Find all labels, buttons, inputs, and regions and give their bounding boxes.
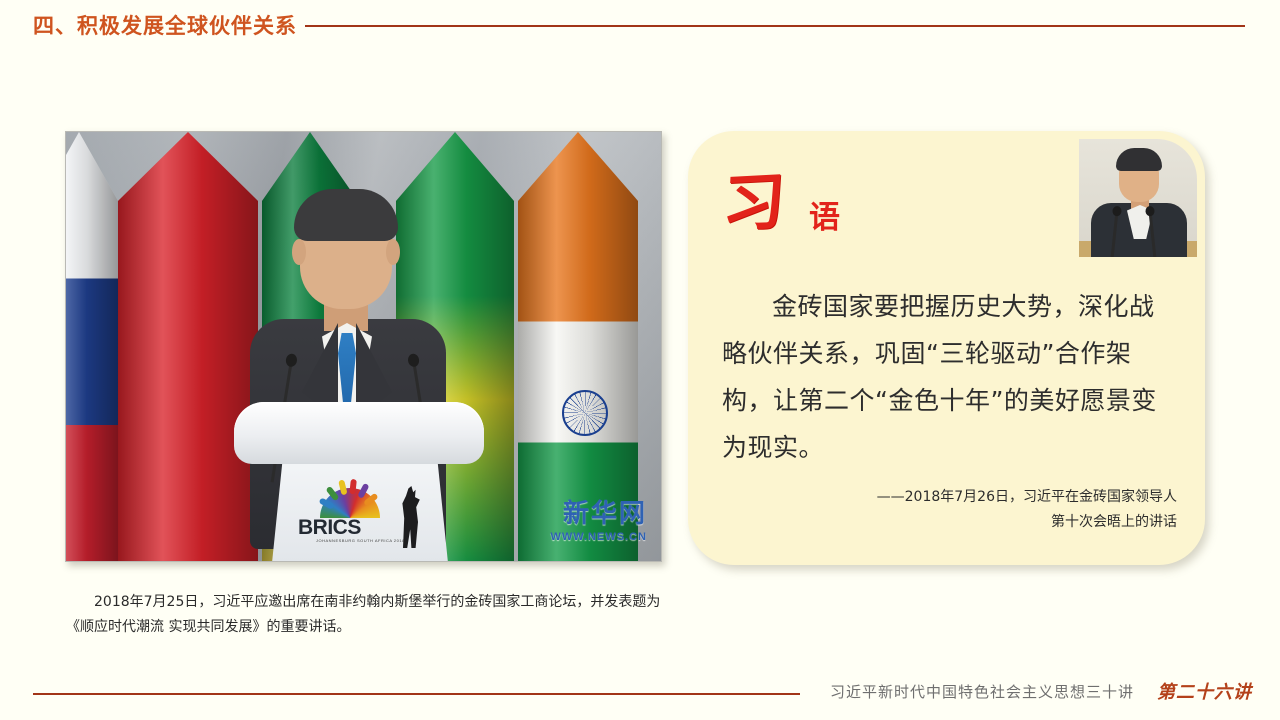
event-photo: BRICS JOHANNESBURG SOUTH AFRICA 2018 新华网… <box>65 131 662 562</box>
footer-lecture-number: 第二十六讲 <box>1157 678 1252 704</box>
speaker-portrait-thumbnail <box>1079 139 1197 257</box>
quote-card: 习 语 金砖国家要把握历史大势，深化战略伙伴关系，巩固“三轮驱动”合作架构，让第… <box>688 131 1205 565</box>
photo-caption: 2018年7月25日，习近平应邀出席在南非约翰内斯堡举行的金砖国家工商论坛，并发… <box>66 590 666 640</box>
footer-divider <box>33 693 800 695</box>
header-divider <box>305 25 1245 27</box>
brics-sub-wordmark: JOHANNESBURG SOUTH AFRICA 2018 <box>316 538 405 543</box>
brics-logo: BRICS JOHANNESBURG SOUTH AFRICA 2018 <box>298 482 426 554</box>
watermark-cn-text: 新华网 <box>550 493 647 530</box>
watermark-url-text: WWW.NEWS.CN <box>550 531 647 543</box>
xiyu-logo: 习 语 <box>723 156 888 241</box>
slide-canvas: 四、积极发展全球伙伴关系 <box>0 0 1280 720</box>
brics-wordmark: BRICS <box>298 516 394 540</box>
podium: BRICS JOHANNESBURG SOUTH AFRICA 2018 <box>234 402 484 561</box>
xiyu-logo-secondary-char: 语 <box>809 192 840 237</box>
footer-book-title: 习近平新时代中国特色社会主义思想三十讲 <box>830 681 1134 702</box>
xiyu-logo-main-char: 习 <box>721 150 788 243</box>
quote-text: 金砖国家要把握历史大势，深化战略伙伴关系，巩固“三轮驱动”合作架构，让第二个“金… <box>722 283 1172 471</box>
photo-inner: BRICS JOHANNESBURG SOUTH AFRICA 2018 新华网… <box>66 132 661 561</box>
brics-fan-icon <box>308 482 392 516</box>
ashoka-chakra-icon <box>562 390 608 436</box>
quote-source-line-1: ——2018年7月26日，习近平在金砖国家领导人 <box>777 485 1177 510</box>
quote-source: ——2018年7月26日，习近平在金砖国家领导人 第十次会晤上的讲话 <box>777 485 1177 535</box>
page-title: 四、积极发展全球伙伴关系 <box>33 10 297 40</box>
news-watermark: 新华网 WWW.NEWS.CN <box>550 493 647 543</box>
quote-source-line-2: 第十次会晤上的讲话 <box>777 510 1177 535</box>
flag-russia <box>66 132 118 561</box>
